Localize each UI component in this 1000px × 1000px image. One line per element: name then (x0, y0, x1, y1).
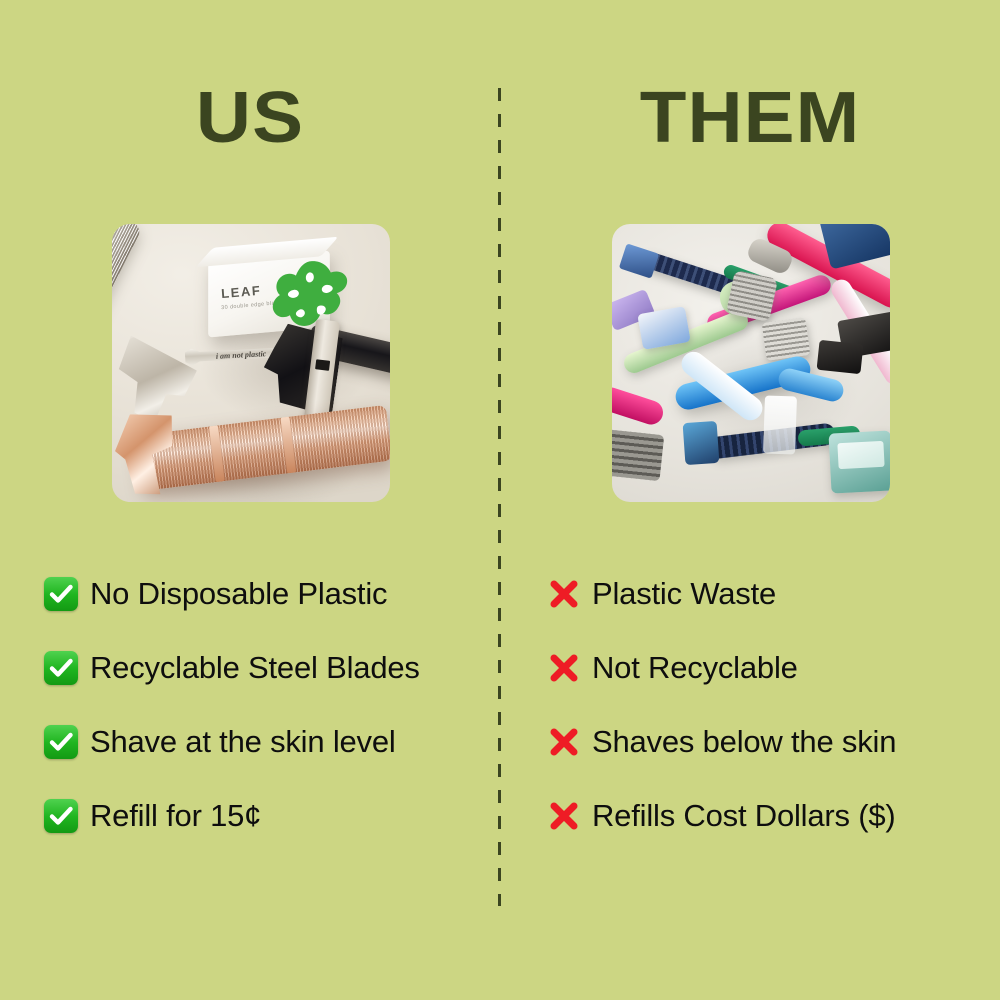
comparison-poster: US THEM LEAF 30 double edge blades i am … (0, 0, 1000, 1000)
leaf-brand-logo: LEAF (221, 283, 262, 301)
list-item-label: Shave at the skin level (90, 726, 396, 759)
list-item: Shaves below the skin (548, 718, 988, 766)
cross-mark-icon (548, 652, 580, 684)
page-title-them: THEM (485, 82, 1000, 154)
cross-mark-icon (548, 726, 580, 758)
vertical-dashed-divider (498, 88, 501, 906)
page-title-us: US (0, 82, 515, 154)
list-item-label: No Disposable Plastic (90, 578, 387, 611)
check-mark-icon (44, 725, 78, 759)
list-item-label: Not Recyclable (592, 652, 798, 685)
list-item-label: Shaves below the skin (592, 726, 896, 759)
check-mark-icon (44, 799, 78, 833)
plastic-razor-teal-head (683, 421, 720, 465)
handle-band (280, 417, 296, 474)
handle-band (209, 425, 225, 482)
photo-us-safety-razor: LEAF 30 double edge blades i am not plas… (112, 224, 390, 502)
check-mark-icon (44, 651, 78, 685)
plastic-case-teal-window (837, 441, 884, 469)
razor-cartridge-chrome-lower (762, 317, 811, 361)
drawbacks-list-them: Plastic Waste Not Recyclable Shaves belo… (548, 570, 988, 866)
razor-cartridge-grey (612, 429, 664, 481)
list-item-label: Plastic Waste (592, 578, 776, 611)
list-item: Refill for 15¢ (44, 792, 484, 840)
check-mark-icon (44, 577, 78, 611)
list-item: No Disposable Plastic (44, 570, 484, 618)
list-item-label: Refill for 15¢ (90, 800, 261, 833)
photo-us-scene: LEAF 30 double edge blades i am not plas… (112, 224, 390, 502)
benefits-list-us: No Disposable Plastic Recyclable Steel B… (44, 570, 484, 866)
list-item: Recyclable Steel Blades (44, 644, 484, 692)
list-item: Plastic Waste (548, 570, 988, 618)
razor-cartridge-chrome-center (726, 270, 778, 322)
plastic-clear-cap (763, 395, 797, 454)
leaf-blade-box: LEAF 30 double edge blades (208, 251, 330, 338)
razor-cartridge-black-mid (817, 340, 864, 374)
cross-mark-icon (548, 800, 580, 832)
list-item: Shave at the skin level (44, 718, 484, 766)
photo-them-scene (612, 224, 890, 502)
list-item: Refills Cost Dollars ($) (548, 792, 988, 840)
list-item-label: Recyclable Steel Blades (90, 652, 420, 685)
cross-mark-icon (548, 578, 580, 610)
list-item-label: Refills Cost Dollars ($) (592, 800, 896, 833)
list-item: Not Recyclable (548, 644, 988, 692)
photo-them-plastic-razors (612, 224, 890, 502)
